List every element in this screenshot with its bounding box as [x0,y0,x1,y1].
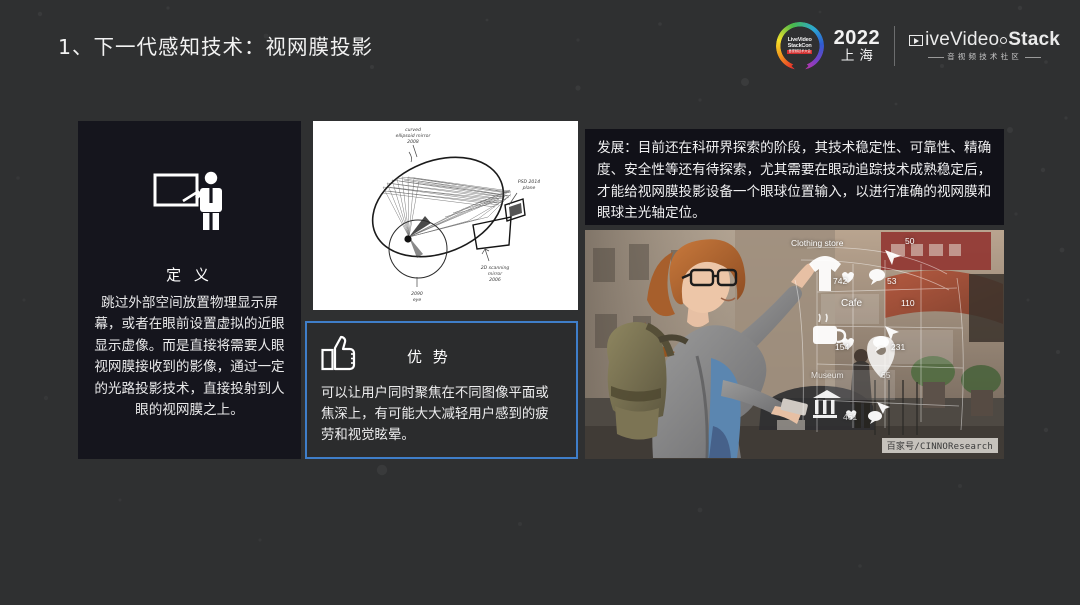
ar-clothing-comments: 53 [887,276,896,286]
brand-tagline: 音视频技术社区 [947,53,1022,61]
advantage-panel: 优 势 可以让用户同时聚焦在不同图像平面或焦深上，有可能大大减轻用户感到的疲劳和… [305,321,578,459]
livevideostack-logo: iveVideoStack 音视频技术社区 [909,30,1060,61]
advantage-body: 可以让用户同时聚焦在不同图像平面或焦深上，有可能大大减轻用户感到的疲劳和视觉眩晕… [321,384,562,446]
diagram-label-scan-1: 2D scanning [481,265,510,271]
brand-lockup: LiveVideo StackCon 音视频技术大会 2022 上海 iveVi… [776,22,1060,70]
definition-body: 跳过外部空间放置物理显示屏幕，或者在眼前设置虚拟的近眼显示虚像。而是直接将需要人… [94,293,285,422]
diagram-label-curved-2: ellipsoid mirror [396,133,432,139]
divider-dash-left [928,57,944,58]
development-body: 发展：目前还在科研界探索的阶段，其技术稳定性、可靠性、精确度、安全性等还有待探索… [597,138,992,225]
diagram-label-curved-1: curved [405,127,421,133]
brand-divider [894,26,895,66]
ar-clothing-likes: 742 [833,276,847,286]
ar-museum-comments: 461 [843,412,857,422]
ar-cafe-name: Cafe [841,298,862,309]
photo-watermark: 百家号/CINNOResearch [882,438,998,453]
diagram-label-psd-1: PSD 2014 [518,179,540,185]
ar-cafe-distance: 110 [901,298,915,308]
ar-museum-distance: 65 [881,370,890,380]
brand-city: 上海 [834,49,881,63]
play-icon [909,35,923,46]
brand-name-part3: Stack [1008,30,1060,51]
diagram-label-eye-1: 2090 [411,291,423,297]
diagram-label-scan-2: mirror [488,271,503,277]
definition-panel: 定 义 跳过外部空间放置物理显示屏幕，或者在眼前设置虚拟的近眼显示虚像。而是直接… [78,121,301,459]
development-panel: 发展：目前还在科研界探索的阶段，其技术稳定性、可靠性、精确度、安全性等还有待探索… [585,129,1004,225]
advantage-title: 优 势 [407,346,451,367]
optical-diagram-panel: curved ellipsoid mirror 2008 PSD 2014 pl… [313,121,578,310]
slide-header: 1、下一代感知技术：视网膜投影 LiveVideo StackCon 音视频技术… [0,0,1080,96]
ar-label-museum: Museum [811,370,844,380]
definition-title: 定 义 [166,264,213,285]
retinal-projection-diagram: curved ellipsoid mirror 2008 PSD 2014 pl… [313,121,578,310]
ar-cafe-comments: 231 [891,342,905,352]
ring-logo-icon: LiveVideo StackCon 音视频技术大会 [776,22,824,70]
ring-logo-line3: 音视频技术大会 [787,50,811,53]
ar-clothing-name: Clothing store [791,238,843,248]
ar-clothing-distance: 50 [905,236,914,246]
diagram-label-scan-3: 2006 [489,277,501,283]
presenter-whiteboard-icon [153,169,227,236]
page-title: 1、下一代感知技术：视网膜投影 [58,30,373,60]
divider-dash-right [1025,57,1041,58]
ar-label-clothing-store: Clothing store [791,238,843,248]
dot-icon [1000,37,1007,44]
thumbs-up-icon [321,335,361,378]
ar-photo: Clothing store 50 742 53 Cafe 110 154 23… [585,230,1004,459]
brand-name-part2: Video [950,30,999,51]
diagram-label-psd-2: plane [522,185,536,191]
diagram-label-curved-3: 2008 [407,139,419,145]
diagram-label-eye-2: eye [413,298,422,303]
ar-photo-illustration [585,230,1004,459]
brand-year-city: 2022 上海 [834,28,881,63]
brand-year: 2022 [834,28,881,49]
ar-museum-name: Museum [811,370,844,380]
ar-cafe-likes: 154 [835,342,849,352]
brand-name-part1: ive [925,30,950,51]
ar-label-cafe: Cafe [841,298,862,309]
